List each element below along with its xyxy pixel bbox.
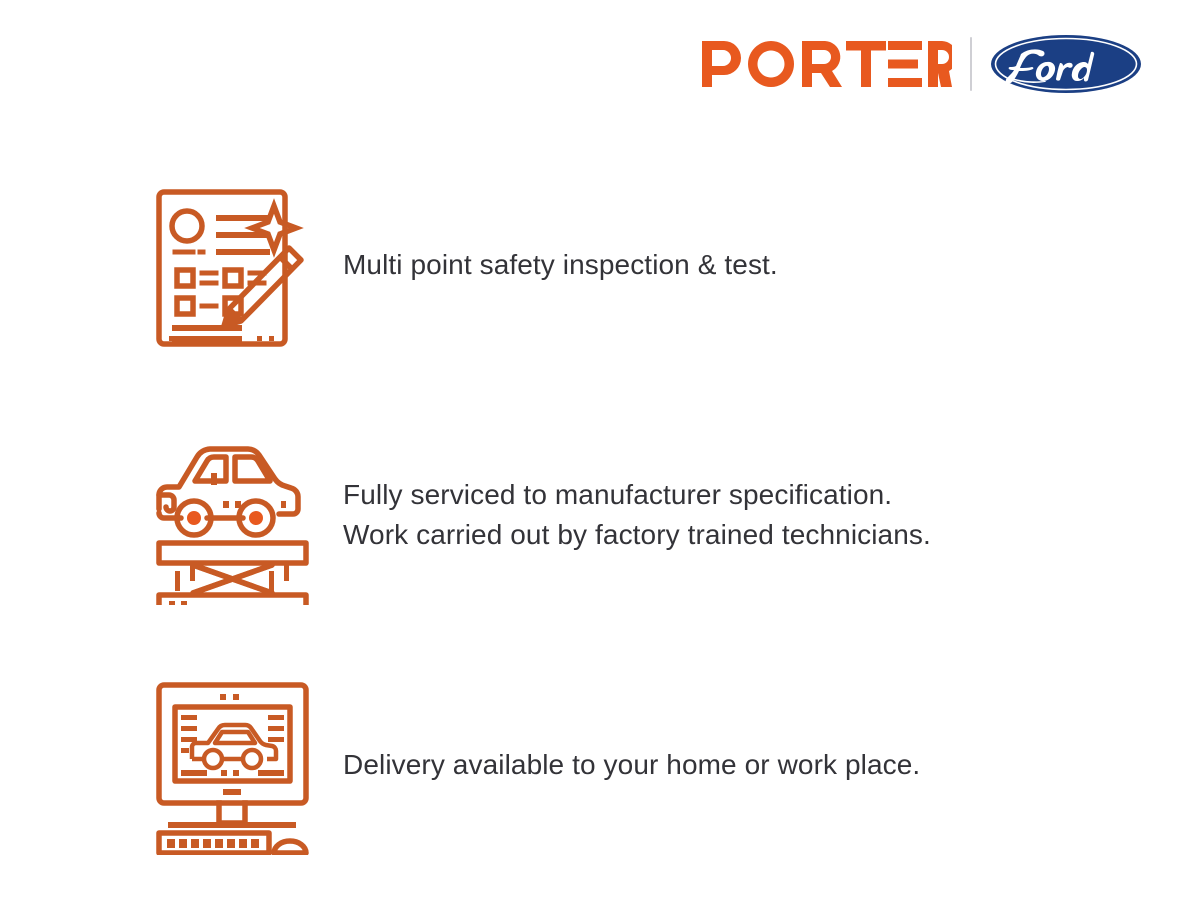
feature-list: Multi point safety inspection & test.	[140, 140, 1120, 890]
porter-logo	[702, 41, 952, 87]
feature-text: Multi point safety inspection & test.	[325, 245, 778, 285]
feature-text-line: Multi point safety inspection & test.	[343, 245, 778, 285]
feature-icon-slot	[140, 425, 325, 605]
feature-text-line: Delivery available to your home or work …	[343, 745, 920, 785]
feature-row: Delivery available to your home or work …	[140, 640, 1120, 890]
porter-wordmark-icon	[702, 41, 952, 87]
brand-divider	[970, 37, 972, 91]
feature-icon-slot	[140, 675, 325, 855]
car-on-scissor-lift-icon	[145, 425, 320, 605]
feature-text-line: Work carried out by factory trained tech…	[343, 515, 931, 555]
feature-row: Multi point safety inspection & test.	[140, 140, 1120, 390]
clipboard-checklist-pencil-icon	[145, 178, 320, 353]
desktop-monitor-car-delivery-icon	[145, 675, 320, 855]
feature-text: Fully serviced to manufacturer specifica…	[325, 475, 931, 555]
feature-row: Fully serviced to manufacturer specifica…	[140, 390, 1120, 640]
feature-text: Delivery available to your home or work …	[325, 745, 920, 785]
sparkle-icon	[252, 206, 296, 250]
feature-icon-slot	[140, 178, 325, 353]
brand-lockup	[702, 34, 1142, 94]
ford-logo-icon	[990, 34, 1142, 94]
feature-text-line: Fully serviced to manufacturer specifica…	[343, 475, 931, 515]
